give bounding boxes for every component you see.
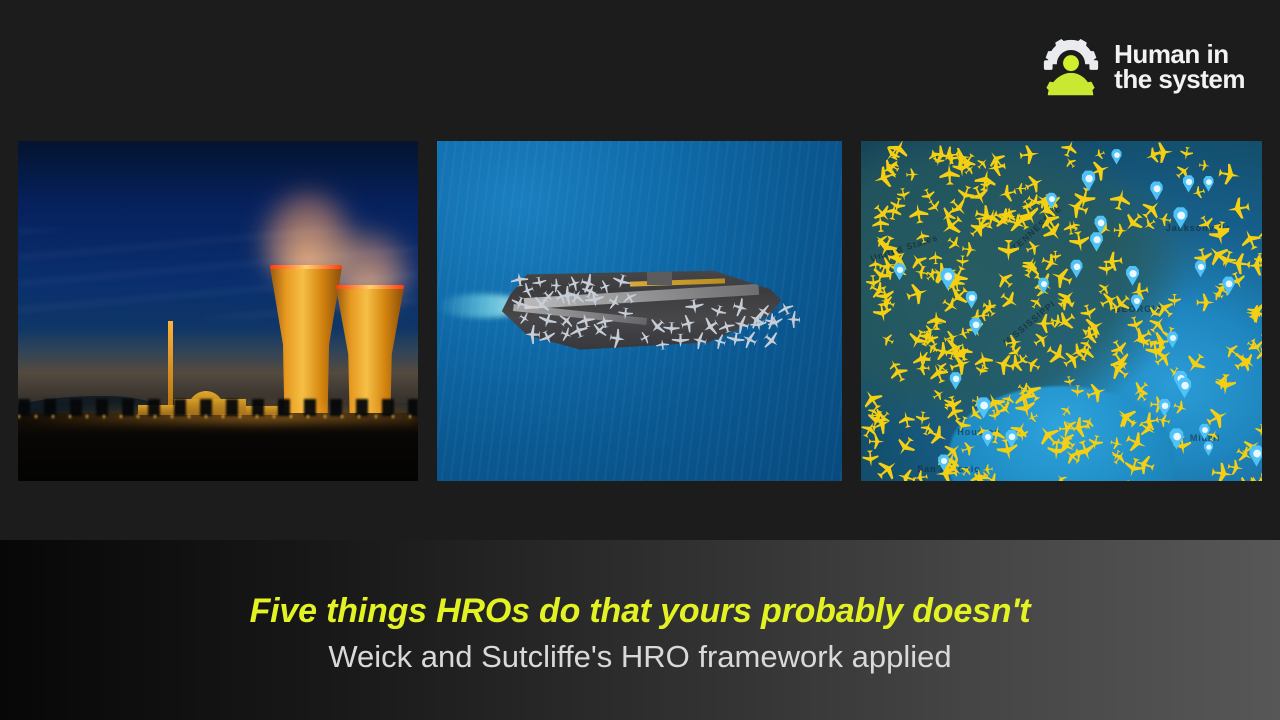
map-aircraft-icon — [1022, 171, 1046, 195]
map-airport-pin-icon — [1069, 259, 1083, 278]
map-airport-pin-icon — [1203, 441, 1214, 456]
carrier-jet-icon — [606, 293, 624, 312]
flight-tracker-map-photo: United States MISSISSIPPI TENNESSEE GEOR… — [861, 141, 1262, 481]
carrier-jet-icon — [672, 334, 690, 348]
map-aircraft-icon — [1119, 208, 1147, 236]
map-aircraft-icon — [1058, 403, 1074, 419]
map-aircraft-icon — [937, 210, 967, 240]
map-aircraft-icon — [1198, 160, 1210, 172]
map-aircraft-icon — [1029, 294, 1046, 311]
map-aircraft-icon — [960, 440, 978, 458]
map-aircraft-icon — [906, 249, 930, 273]
map-aircraft-icon — [986, 157, 1007, 178]
carrier-jet-icon — [775, 300, 795, 318]
map-aircraft-icon — [1151, 141, 1174, 164]
map-aircraft-icon — [1182, 349, 1210, 377]
map-aircraft-icon — [1108, 187, 1133, 212]
carrier-jet-icon — [517, 310, 532, 326]
map-airport-pin-icon — [1038, 277, 1051, 294]
map-aircraft-icon — [1039, 217, 1067, 245]
map-airport-pin-icon — [1124, 265, 1140, 286]
map-aircraft-icon — [958, 462, 974, 478]
carrier-jet-icon — [760, 329, 783, 353]
map-aircraft-icon — [879, 331, 896, 348]
map-airport-pin-icon — [1110, 148, 1122, 164]
carrier-jet-icon — [618, 307, 634, 320]
map-airport-pin-icon — [1172, 206, 1189, 228]
map-aircraft-icon — [956, 255, 969, 268]
map-aircraft-icon — [972, 349, 994, 371]
map-aircraft-icon — [861, 385, 886, 413]
carrier-jet-icon — [680, 313, 698, 334]
map-aircraft-icon — [1179, 146, 1194, 161]
map-aircraft-icon — [1018, 143, 1039, 164]
carrier-jet-icon — [709, 303, 728, 319]
slide-title: Five things HROs do that yours probably … — [250, 593, 1031, 630]
map-airport-pin-icon — [965, 290, 979, 308]
carrier-jet-icon — [620, 289, 639, 307]
map-aircraft-icon — [1261, 388, 1262, 402]
map-aircraft-icon — [1226, 196, 1251, 221]
map-aircraft-icon — [1054, 285, 1081, 312]
map-aircraft-icon — [962, 241, 978, 257]
map-aircraft-icon — [905, 280, 932, 307]
carrier-jet-icon — [608, 328, 626, 350]
carrier-jet-icon — [567, 275, 583, 293]
carrier-jet-icon — [611, 273, 632, 291]
map-aircraft-icon — [1123, 429, 1150, 456]
carrier-jet-icon — [556, 311, 577, 331]
map-aircraft-icon — [1063, 376, 1075, 388]
map-aircraft-icon — [1055, 290, 1078, 313]
map-aircraft-icon — [1196, 213, 1217, 234]
map-airport-pin-icon — [1149, 180, 1164, 200]
map-airport-pin-icon — [968, 317, 983, 336]
map-aircraft-icon — [1237, 226, 1262, 253]
carrier-jet-icon — [575, 312, 596, 330]
map-aircraft-icon — [918, 420, 935, 437]
map-aircraft-icon — [1059, 141, 1080, 159]
carrier-jet-icon — [524, 325, 539, 345]
map-aircraft-icon — [907, 202, 929, 224]
map-aircraft-icon — [1093, 147, 1107, 161]
map-aircraft-icon — [892, 433, 919, 460]
map-aircraft-icon — [956, 326, 971, 341]
map-aircraft-icon — [1031, 329, 1053, 351]
map-aircraft-icon — [954, 183, 976, 205]
image-gallery: United States MISSISSIPPI TENNESSEE GEOR… — [18, 141, 1256, 481]
map-aircraft-icon — [914, 411, 929, 426]
map-aircraft-icon — [868, 434, 883, 449]
carrier-jet-icon — [551, 278, 562, 292]
map-aircraft-icon — [1111, 476, 1136, 481]
map-aircraft-icon — [1234, 472, 1260, 481]
presentation-slide: Human inthe system — [0, 0, 1280, 720]
carrier-jet-icon — [731, 297, 750, 319]
map-aircraft-icon — [1230, 347, 1258, 375]
map-aircraft-icon — [1113, 223, 1127, 237]
carrier-jet-icon — [558, 326, 574, 343]
map-aircraft-icon — [1228, 251, 1251, 274]
caption-band: Five things HROs do that yours probably … — [0, 540, 1280, 720]
carrier-jet-icon — [510, 295, 530, 313]
map-aircraft-icon — [1018, 256, 1043, 281]
carrier-jet-icon — [711, 332, 727, 350]
map-airport-pin-icon — [1181, 175, 1195, 193]
map-aircraft-icon — [895, 466, 917, 481]
map-aircraft-icon — [1035, 313, 1054, 332]
map-aircraft-icon — [869, 257, 883, 271]
carrier-jet-icon — [717, 318, 736, 334]
map-aircraft-icon — [915, 229, 931, 245]
map-aircraft-icon — [1112, 402, 1143, 433]
slide-subtitle: Weick and Sutcliffe's HRO framework appl… — [328, 639, 951, 675]
map-aircraft-icon — [1246, 473, 1262, 481]
map-aircraft-icon — [862, 449, 880, 467]
map-aircraft-icon — [897, 410, 916, 429]
map-aircraft-icon — [1129, 378, 1153, 402]
map-aircraft-icon — [1122, 455, 1146, 479]
map-aircraft-icon — [1079, 302, 1099, 322]
map-aircraft-icon — [945, 233, 965, 253]
map-aircraft-icon — [1172, 399, 1189, 416]
map-aircraft-icon — [1211, 462, 1235, 481]
carrier-jet-icon — [531, 276, 547, 290]
carrier-jet-icon — [685, 298, 705, 315]
logo-wordmark-line2: the system — [1114, 64, 1245, 94]
map-aircraft-icon — [917, 350, 932, 365]
aircraft-carrier-photo — [437, 141, 842, 481]
map-aircraft-icon — [967, 218, 989, 240]
carrier-jet-icon — [725, 331, 745, 348]
map-aircraft-icon — [1108, 337, 1131, 360]
carrier-jet-icon — [537, 328, 558, 347]
map-airport-pin-icon — [1088, 231, 1103, 251]
map-aircraft-icon — [873, 454, 903, 481]
map-aircraft-icon — [1140, 216, 1157, 233]
logo-wordmark: Human inthe system — [1114, 42, 1245, 92]
map-aircraft-icon — [884, 141, 912, 164]
carrier-jet-icon — [536, 312, 558, 331]
map-aircraft-icon — [1063, 155, 1079, 171]
map-aircraft-icon — [992, 267, 1017, 292]
brand-logo: Human inthe system — [1040, 36, 1245, 98]
map-aircraft-icon — [1132, 452, 1156, 476]
map-aircraft-icon — [1084, 380, 1109, 405]
map-aircraft-icon — [1257, 225, 1262, 242]
map-aircraft-icon — [1039, 252, 1061, 274]
gear-person-icon — [1040, 36, 1102, 98]
nuclear-power-plant-photo — [18, 141, 418, 481]
map-aircraft-icon — [995, 437, 1020, 462]
map-aircraft-icon — [1126, 315, 1145, 334]
map-airport-pin-icon — [1198, 423, 1211, 440]
map-aircraft-icon — [1207, 223, 1231, 247]
carrier-jet-icon — [638, 329, 653, 345]
map-aircraft-icon — [930, 386, 946, 402]
map-aircraft-icon — [997, 288, 1022, 313]
map-aircraft-icon — [1000, 392, 1016, 408]
map-aircraft-icon — [1157, 212, 1172, 227]
carrier-jet-icon — [598, 278, 613, 295]
map-aircraft-icon — [1071, 385, 1084, 398]
map-airport-pin-icon — [1221, 276, 1236, 295]
carrier-jet-icon — [663, 322, 680, 335]
map-aircraft-icon — [1190, 185, 1205, 200]
carrier-jet-icon — [690, 330, 708, 350]
map-aircraft-icon — [906, 168, 919, 181]
map-aircraft-icon — [981, 463, 993, 475]
map-aircraft-icon — [1197, 294, 1215, 312]
map-aircraft-icon — [913, 469, 929, 481]
map-aircraft-icon — [920, 187, 938, 205]
map-aircraft-icon — [1024, 238, 1043, 257]
map-aircraft-icon — [998, 240, 1019, 261]
carrier-jet-icon — [656, 339, 670, 350]
map-aircraft-icon — [1217, 163, 1241, 187]
map-aircraft-icon — [1254, 423, 1262, 437]
map-aircraft-icon — [1053, 472, 1069, 481]
map-aircraft-icon — [1109, 436, 1124, 451]
map-aircraft-icon — [997, 183, 1018, 204]
